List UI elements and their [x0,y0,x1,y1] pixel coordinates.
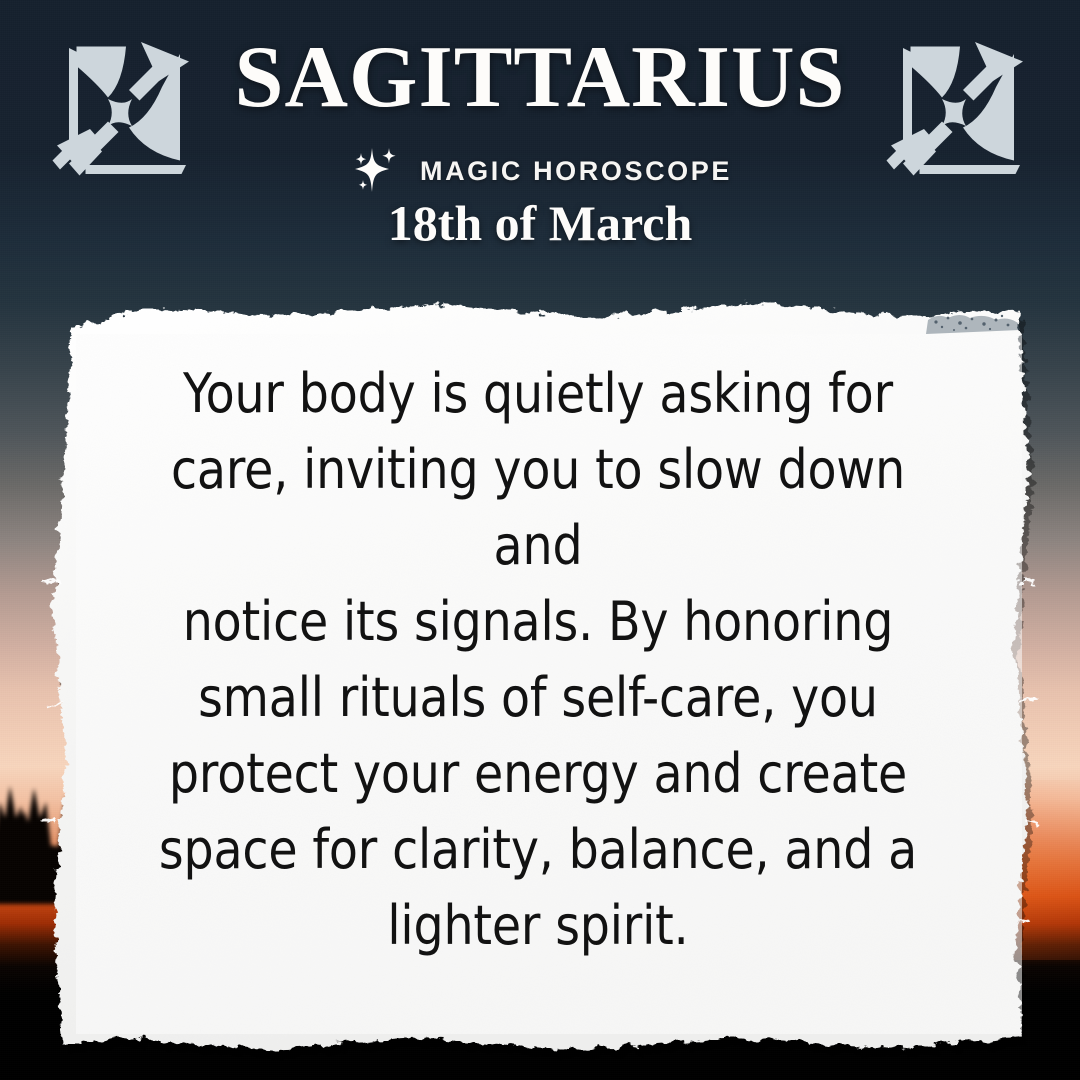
horoscope-line: lighter spirit. [149,888,927,964]
horoscope-text: Your body is quietly asking for care, in… [149,356,927,964]
horoscope-line: notice its signals. By honoring [149,584,927,660]
date-label: 18th of March [0,198,1080,248]
sparkle-icon [348,142,406,200]
brand-row: MAGIC HOROSCOPE [0,142,1080,200]
header: SAGITTARIUS MAGIC HOROSCOPE 18th of Marc… [0,0,1080,272]
horoscope-line: care, inviting you to slow down and [149,432,927,584]
horoscope-line: small rituals of self-care, you [149,660,927,736]
horoscope-line: space for clarity, balance, and a [149,812,927,888]
brand-label: MAGIC HOROSCOPE [420,156,732,187]
page-title: SAGITTARIUS [0,34,1080,122]
torn-paper-card: Your body is quietly asking for care, in… [36,282,1046,1066]
horoscope-line: Your body is quietly asking for [149,356,927,432]
horoscope-line: protect your energy and create [149,736,927,812]
